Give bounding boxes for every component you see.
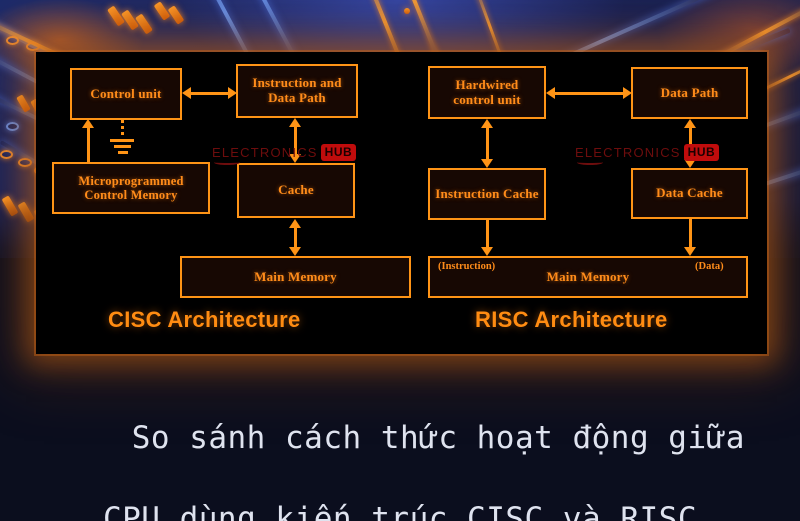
cisc-arrow-memory-to-control-unit: [87, 127, 90, 162]
watermark-electronics-hub-cisc: ELECTRONICS HUB: [212, 144, 356, 161]
cisc-main-memory-label: Main Memory: [250, 270, 341, 285]
cisc-arrow-cache-to-main-memory: [294, 227, 297, 249]
watermark-swoosh-icon: [577, 158, 603, 165]
risc-main-memory-instruction-label: (Instruction): [438, 261, 495, 272]
risc-arrow-control-to-instruction-cache-head-down: [481, 159, 493, 168]
cisc-box-instruction-and-data-path: Instruction and Data Path: [236, 64, 358, 118]
risc-arrow-instruction-cache-to-main-memory: [486, 220, 489, 248]
cisc-box-microprogrammed-control-memory: Microprogrammed Control Memory: [52, 162, 210, 214]
cisc-ground-bar-1: [110, 139, 134, 142]
risc-arrow-control-to-datapath-head-right: [623, 87, 632, 99]
risc-data-path-label: Data Path: [657, 86, 723, 101]
risc-arrow-control-to-datapath-head-left: [546, 87, 555, 99]
risc-box-hardwired-control-unit: Hardwired control unit: [428, 66, 546, 119]
cisc-ground-bar-2: [114, 145, 131, 148]
cisc-ground-bar-3: [118, 151, 128, 154]
cisc-arrow-control-to-datapath-head-right: [228, 87, 237, 99]
cisc-box-control-unit: Control unit: [70, 68, 182, 120]
cisc-arrow-control-to-datapath-head-left: [182, 87, 191, 99]
risc-architecture-title: RISC Architecture: [475, 307, 668, 333]
risc-arrow-control-to-instruction-cache: [486, 127, 489, 161]
screenshot-root: Control unit Instruction and Data Path M…: [0, 0, 800, 521]
risc-hardwired-control-unit-label: Hardwired control unit: [449, 78, 525, 108]
watermark-hub-badge: HUB: [684, 144, 720, 161]
cisc-ground-dashed-line: [121, 120, 124, 138]
cisc-microprogrammed-control-memory-label: Microprogrammed Control Memory: [74, 174, 187, 203]
watermark-electronics-hub-risc: ELECTRONICS HUB: [575, 144, 719, 161]
cisc-instruction-data-path-label: Instruction and Data Path: [248, 76, 345, 106]
risc-instruction-cache-label: Instruction Cache: [431, 187, 542, 202]
risc-main-memory-data-label: (Data): [695, 261, 724, 272]
cisc-control-unit-label: Control unit: [86, 87, 165, 102]
caption-line-1: So sánh cách thức hoạt động giữa: [132, 420, 745, 456]
cisc-arrow-memory-to-control-unit-head: [82, 119, 94, 128]
risc-box-instruction-cache: Instruction Cache: [428, 168, 546, 220]
cisc-arrow-control-to-datapath: [190, 92, 228, 95]
cisc-cache-label: Cache: [274, 183, 318, 198]
watermark-hub-badge: HUB: [321, 144, 357, 161]
cisc-architecture-title: CISC Architecture: [108, 307, 301, 333]
risc-arrow-datapath-to-data-cache-head-up: [684, 119, 696, 128]
cisc-arrow-cache-to-main-memory-head-down: [289, 247, 301, 256]
risc-box-data-cache: Data Cache: [631, 168, 748, 219]
risc-arrow-control-to-instruction-cache-head-up: [481, 119, 493, 128]
risc-main-memory-label: Main Memory: [543, 270, 634, 285]
risc-box-data-path: Data Path: [631, 67, 748, 119]
risc-arrow-control-to-datapath: [554, 92, 623, 95]
risc-arrow-data-cache-to-main-memory-head: [684, 247, 696, 256]
cisc-box-cache: Cache: [237, 163, 355, 218]
risc-arrow-instruction-cache-to-main-memory-head: [481, 247, 493, 256]
cisc-box-main-memory: Main Memory: [180, 256, 411, 298]
risc-arrow-data-cache-to-main-memory: [689, 219, 692, 248]
watermark-swoosh-icon: [214, 158, 240, 165]
cisc-arrow-cache-to-main-memory-head-up: [289, 219, 301, 228]
diagram-panel: Control unit Instruction and Data Path M…: [40, 55, 763, 350]
caption: So sánh cách thức hoạt động giữa CPU dùn…: [0, 378, 800, 521]
caption-line-2: CPU dùng kiến trúc CISC và RISC: [0, 499, 800, 521]
cisc-arrow-datapath-to-cache-head-up: [289, 118, 301, 127]
risc-data-cache-label: Data Cache: [652, 186, 727, 201]
